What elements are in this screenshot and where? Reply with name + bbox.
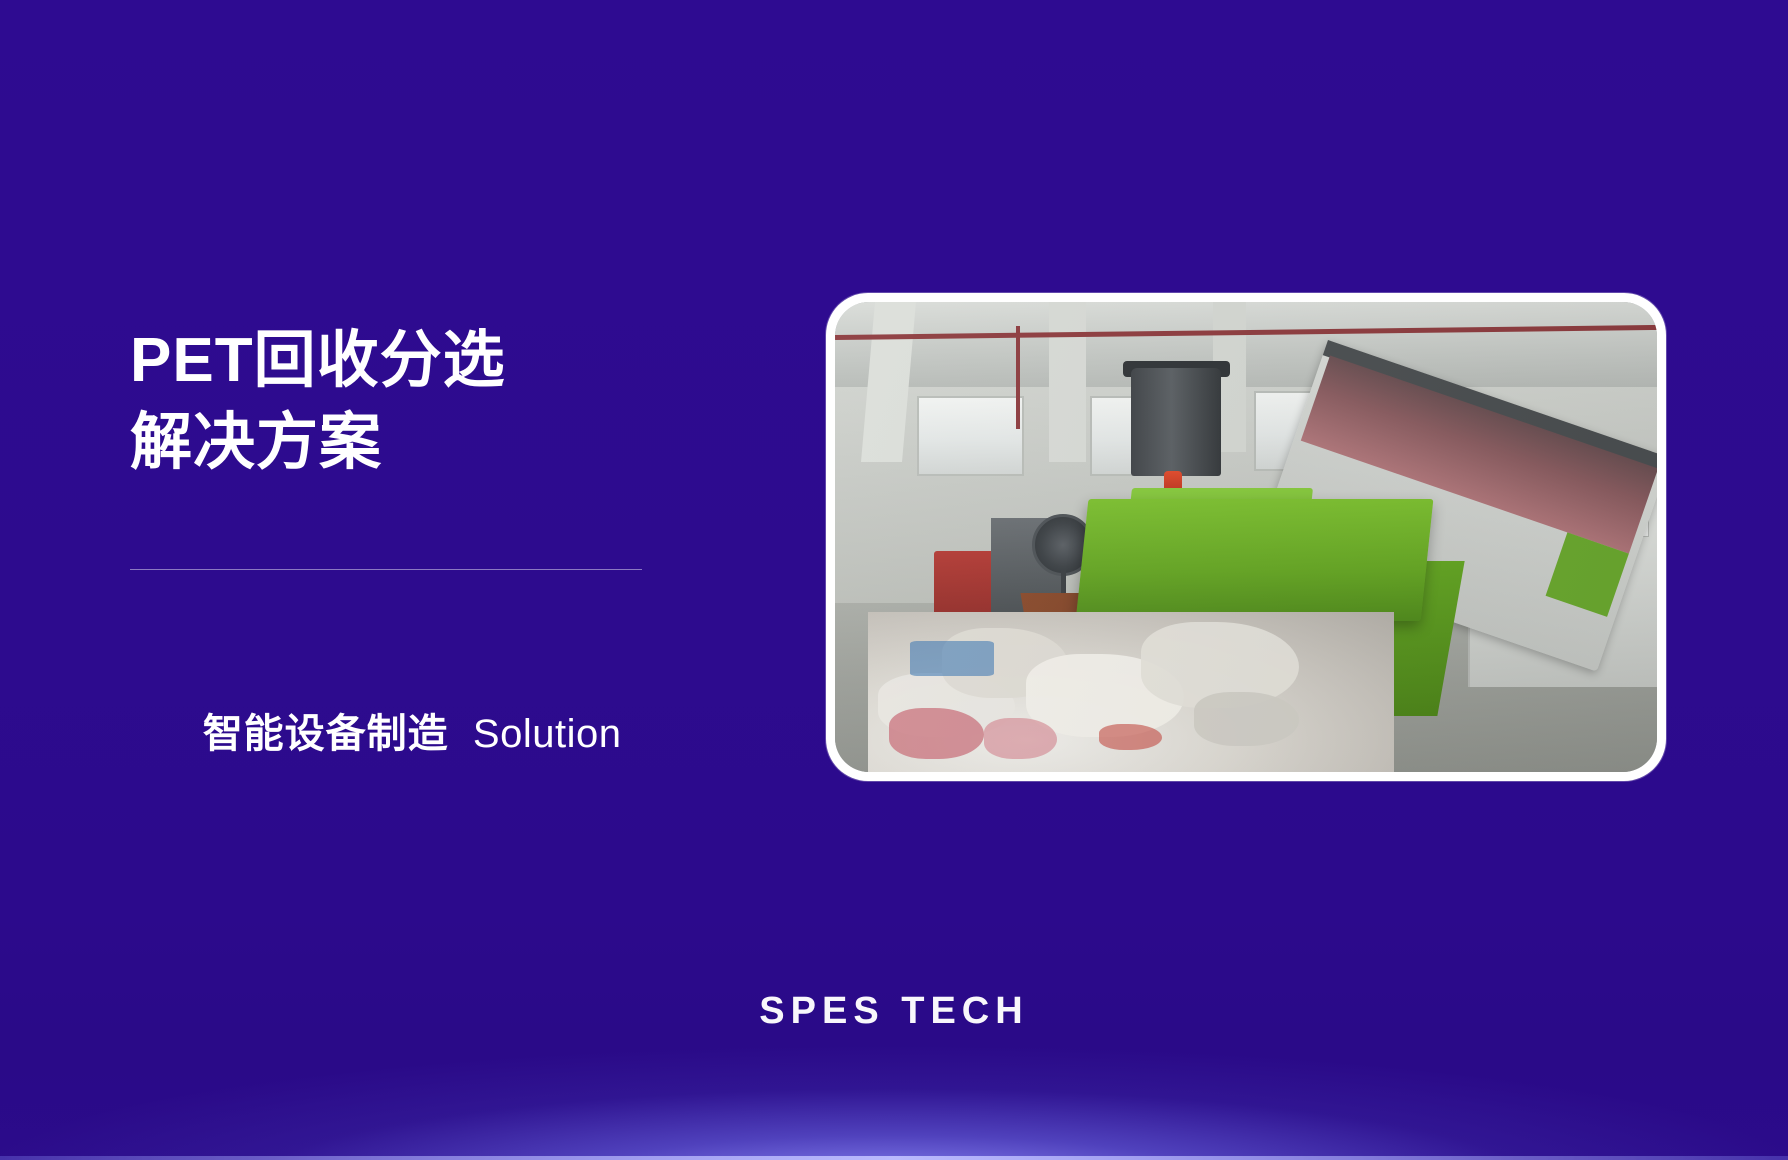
recycling-line-photo: [835, 302, 1657, 772]
subtitle: 智能设备制造 Solution: [130, 656, 650, 804]
subtitle-cn: 智能设备制造: [203, 712, 449, 756]
title-divider: [130, 569, 642, 570]
subtitle-en: Solution: [473, 712, 622, 756]
photo-card: [826, 293, 1666, 781]
brand-logo-text: SPES TECH: [0, 990, 1788, 1033]
page-title: PET回收分选 解决方案: [130, 320, 650, 484]
left-text-block: PET回收分选 解决方案 智能设备制造 Solution: [130, 320, 650, 804]
slide-root: PET回收分选 解决方案 智能设备制造 Solution: [0, 0, 1788, 1160]
bottom-accent-line: [0, 1156, 1788, 1160]
photo-tone-overlay: [835, 302, 1657, 772]
